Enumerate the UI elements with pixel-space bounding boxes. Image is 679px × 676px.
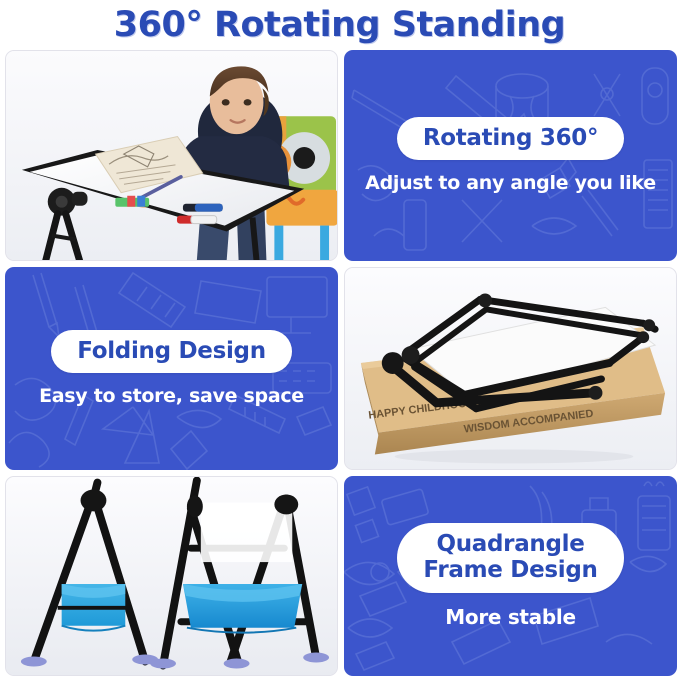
infographic-page: 360° Rotating Standing <box>0 0 679 674</box>
subtitle-rotating: Adjust to any angle you like <box>365 172 656 194</box>
panel-photo-rotating <box>5 50 338 261</box>
subtitle-folding: Easy to store, save space <box>39 385 304 407</box>
photo-easel-leg-frames <box>6 477 337 675</box>
badge-label: Folding Design <box>77 339 266 365</box>
badge-folding-design: Folding Design <box>51 330 292 374</box>
photo-folded-easel-on-box: HAPPY CHILDHOOD WISDOM ACCOMPANIED <box>345 268 676 469</box>
page-title: 360° Rotating Standing <box>114 5 565 45</box>
badge-quadrangle-frame-design: Quadrangle Frame Design <box>397 523 623 593</box>
badge-label: Quadrangle Frame Design <box>423 532 597 584</box>
panel-text-folding: Folding Design Easy to store, save space <box>5 267 338 470</box>
panel-text-rotating: Rotating 360° Adjust to any angle you li… <box>344 50 677 261</box>
badge-rotating-360: Rotating 360° <box>397 117 624 161</box>
panel-photo-folding: HAPPY CHILDHOOD WISDOM ACCOMPANIED <box>344 267 677 470</box>
badge-label: Rotating 360° <box>423 126 598 152</box>
subtitle-frame: More stable <box>445 605 575 629</box>
panel-grid: Rotating 360° Adjust to any angle you li… <box>0 50 679 676</box>
panel-photo-frame <box>5 476 338 676</box>
title-bar: 360° Rotating Standing <box>0 0 679 50</box>
photo-boy-drawing <box>6 51 337 260</box>
panel-text-frame: Quadrangle Frame Design More stable <box>344 476 677 676</box>
